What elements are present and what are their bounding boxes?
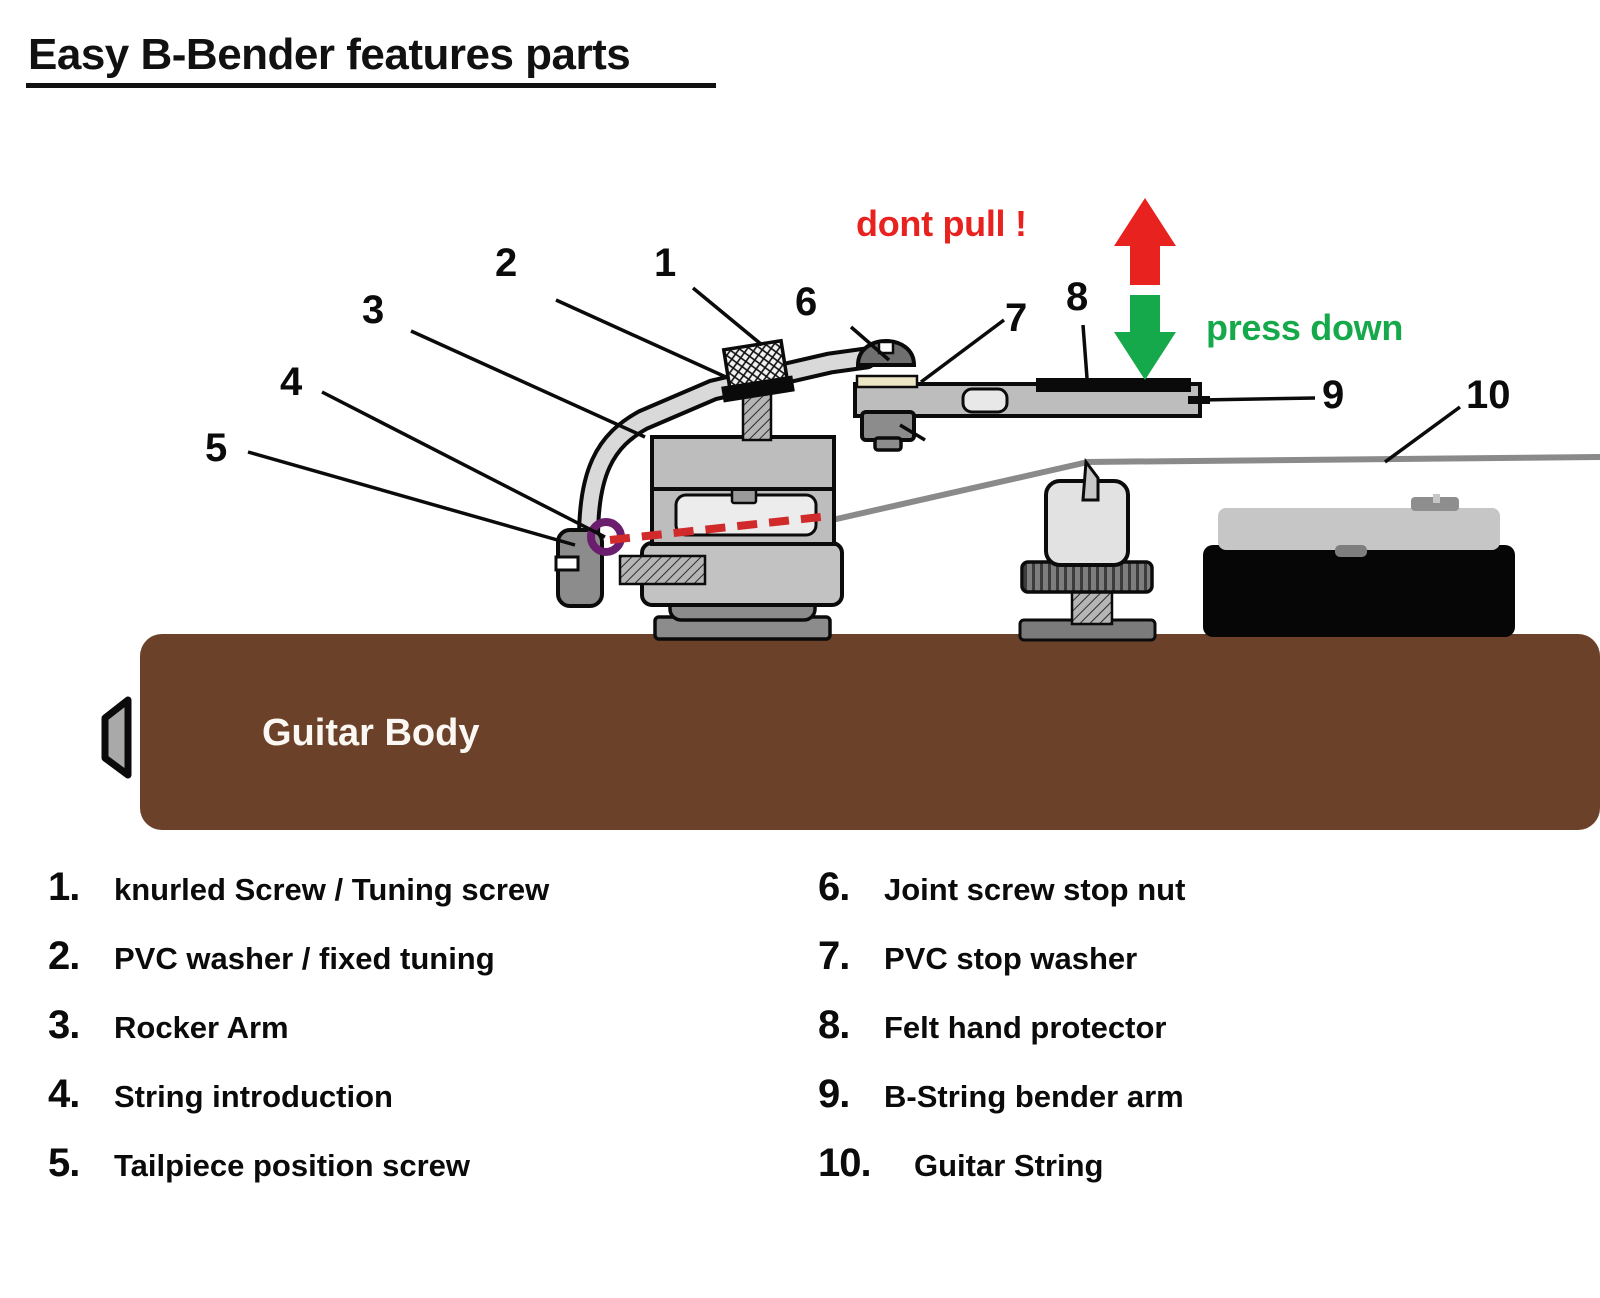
guitar-string-right	[1086, 457, 1600, 462]
leader-5	[248, 452, 575, 545]
leader-2	[556, 300, 728, 378]
press-down-arrow-icon	[1114, 295, 1176, 380]
callout-8: 8	[1066, 277, 1088, 317]
legend-num-1: 1.	[48, 865, 114, 910]
callout-7: 7	[1005, 298, 1027, 338]
guitar-body-label: Guitar Body	[262, 712, 479, 755]
legend-num-9: 9.	[818, 1072, 884, 1117]
legend-num-6: 6.	[818, 865, 884, 910]
leader-8	[1083, 325, 1087, 378]
callout-2: 2	[495, 243, 517, 283]
legend-item-10: 10. Guitar String	[818, 1141, 1185, 1185]
pvc-stop-washer	[857, 376, 917, 387]
joint-stop-nut	[862, 412, 914, 440]
legend-num-3: 3.	[48, 1003, 114, 1048]
legend-label-4: String introduction	[114, 1079, 393, 1115]
leader-3	[411, 331, 645, 437]
legend-column-right: 6. Joint screw stop nut 7. PVC stop wash…	[818, 865, 1185, 1210]
legend-label-10: Guitar String	[914, 1148, 1103, 1184]
legend-num-7: 7.	[818, 934, 884, 979]
legend-label-6: Joint screw stop nut	[884, 872, 1185, 908]
legend-column-left: 1. knurled Screw / Tuning screw 2. PVC w…	[48, 865, 549, 1210]
knurled-tuning-screw	[721, 341, 795, 403]
leader-7	[921, 320, 1004, 382]
dont-pull-warning: dont pull !	[856, 203, 1027, 245]
callout-10: 10	[1466, 375, 1511, 415]
legend-item-4: 4. String introduction	[48, 1072, 549, 1116]
callout-5: 5	[205, 428, 227, 468]
leader-1	[693, 288, 762, 345]
legend-label-8: Felt hand protector	[884, 1010, 1166, 1046]
dont-pull-arrow-icon	[1114, 198, 1176, 285]
leader-10	[1385, 407, 1460, 462]
callout-3: 3	[362, 290, 384, 330]
bbender-diagram	[0, 0, 1600, 860]
callout-1: 1	[654, 243, 676, 283]
legend-label-1: knurled Screw / Tuning screw	[114, 872, 549, 908]
strap-button-icon	[105, 700, 128, 775]
legend-label-5: Tailpiece position screw	[114, 1148, 470, 1184]
guitar-pickup	[1203, 494, 1515, 637]
callout-4: 4	[280, 362, 302, 402]
diagram-page: Easy B-Bender features parts	[0, 0, 1600, 1298]
legend-item-2: 2. PVC washer / fixed tuning	[48, 934, 549, 978]
bridge-post	[1020, 462, 1155, 640]
legend-label-9: B-String bender arm	[884, 1079, 1184, 1115]
legend-label-3: Rocker Arm	[114, 1010, 289, 1046]
legend-num-10: 10.	[818, 1141, 914, 1186]
legend-item-7: 7. PVC stop washer	[818, 934, 1185, 978]
legend-label-7: PVC stop washer	[884, 941, 1137, 977]
felt-hand-protector	[1036, 378, 1191, 392]
legend-item-9: 9. B-String bender arm	[818, 1072, 1185, 1116]
legend-item-3: 3. Rocker Arm	[48, 1003, 549, 1047]
legend-num-2: 2.	[48, 934, 114, 979]
legend-item-6: 6. Joint screw stop nut	[818, 865, 1185, 909]
leader-4	[322, 392, 605, 537]
callout-9: 9	[1322, 375, 1344, 415]
legend-item-5: 5. Tailpiece position screw	[48, 1141, 549, 1185]
legend-item-8: 8. Felt hand protector	[818, 1003, 1185, 1047]
legend-num-8: 8.	[818, 1003, 884, 1048]
callout-6: 6	[795, 282, 817, 322]
legend-num-5: 5.	[48, 1141, 114, 1186]
legend-label-2: PVC washer / fixed tuning	[114, 941, 495, 977]
legend-item-1: 1. knurled Screw / Tuning screw	[48, 865, 549, 909]
leader-9	[1200, 398, 1315, 400]
legend-num-4: 4.	[48, 1072, 114, 1117]
screw-slot	[556, 557, 578, 570]
parts-legend: 1. knurled Screw / Tuning screw 2. PVC w…	[0, 865, 1600, 1205]
press-down-label: press down	[1206, 307, 1403, 349]
